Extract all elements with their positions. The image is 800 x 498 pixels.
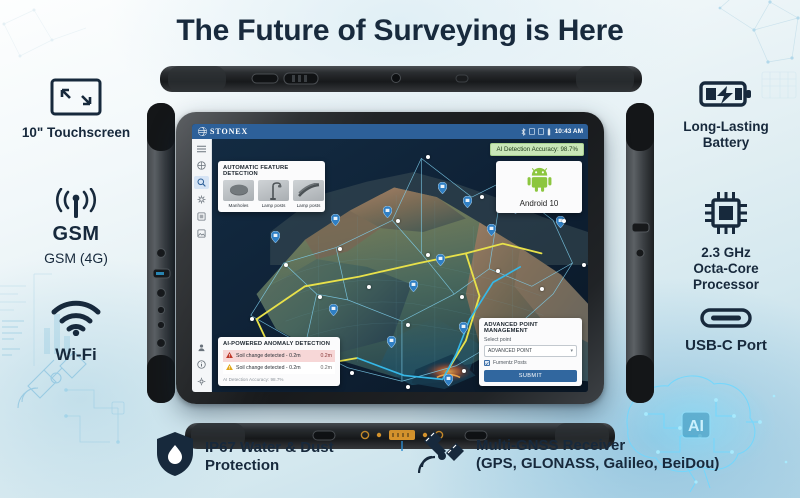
feature-detection-items: Manholes Lamp posts	[223, 180, 320, 208]
status-bar: STONEX 10:43 AM	[192, 124, 588, 139]
map-pin[interactable]	[438, 181, 447, 193]
gsm-word: GSM	[8, 223, 144, 246]
image-icon[interactable]	[194, 227, 209, 240]
survey-point[interactable]	[496, 269, 500, 273]
survey-point[interactable]	[338, 247, 342, 251]
map-pin[interactable]	[487, 223, 496, 235]
map-pin[interactable]	[329, 303, 338, 315]
battery-bolt-icon	[658, 78, 794, 115]
survey-point[interactable]	[540, 287, 544, 291]
usb-c-icon	[658, 308, 794, 333]
survey-point[interactable]	[426, 253, 430, 257]
anomaly-value: 0.2m	[320, 353, 332, 359]
chevron-down-icon: ▾	[570, 348, 573, 354]
anomaly-row[interactable]: Soil change detected - 0.2m 0.2m	[223, 362, 335, 374]
app-sidebar	[192, 139, 212, 392]
survey-point[interactable]	[562, 219, 566, 223]
survey-point[interactable]	[367, 285, 371, 289]
settings-icon[interactable]	[194, 375, 209, 388]
survey-point[interactable]	[462, 369, 466, 373]
map-pin[interactable]	[271, 230, 280, 242]
select-point-label: Select point	[484, 337, 577, 343]
anomaly-title: AI-POWERED ANOMALY DETECTION	[223, 341, 335, 347]
tablet-screen[interactable]: STONEX 10:43 AM	[192, 124, 588, 392]
touchscreen-icon	[8, 78, 144, 121]
guardrail-icon	[293, 180, 324, 201]
brand-logo: STONEX	[198, 127, 248, 136]
user-icon[interactable]	[194, 341, 209, 354]
feature-touchscreen: 10" Touchscreen	[8, 78, 144, 141]
survey-point[interactable]	[460, 295, 464, 299]
status-icons: 10:43 AM	[521, 128, 583, 136]
clock-label: 10:43 AM	[555, 128, 583, 135]
stonex-globe-icon	[198, 127, 207, 136]
menu-icon[interactable]	[194, 142, 209, 155]
survey-point[interactable]	[426, 155, 430, 159]
point-management-panel[interactable]: ADVANCED POINT MANAGEMENT Select point A…	[479, 318, 582, 386]
feature-label: 2.3 GHz Octa-Core Processor	[658, 245, 794, 293]
anomaly-value: 0.2m	[320, 365, 332, 371]
map-pin[interactable]	[436, 253, 445, 265]
feature-item-caption: Lamp posts	[258, 203, 289, 208]
feature-label: Wi-Fi	[8, 345, 144, 365]
brand-name: STONEX	[210, 127, 248, 136]
feature-label: Long-Lasting Battery	[658, 119, 794, 151]
battery-icon	[547, 128, 551, 136]
poster-canvas: AI The Future of Surveying is Here	[0, 0, 800, 498]
wifi-icon	[8, 300, 144, 341]
feature-detection-title: AUTOMATIC FEATURE DETECTION	[223, 165, 320, 177]
submit-button[interactable]: SUBMIT	[484, 370, 577, 382]
select-point-dropdown[interactable]: ADVANCED POINT ▾	[484, 345, 577, 357]
feature-processor: 2.3 GHz Octa-Core Processor	[658, 190, 794, 293]
shield-droplet-icon	[155, 431, 195, 482]
select-point-value: ADVANCED POINT	[488, 348, 532, 354]
feature-item[interactable]: Manholes	[223, 180, 254, 208]
map-pin[interactable]	[409, 279, 418, 291]
tablet-device: STONEX 10:43 AM	[176, 112, 604, 404]
map-pin[interactable]	[463, 195, 472, 207]
survey-point[interactable]	[582, 263, 586, 267]
android-robot-icon	[526, 166, 553, 197]
furniture-posts-label: Furnentz Posts	[493, 360, 527, 366]
feature-item-caption: Lamp posts	[293, 203, 324, 208]
feature-label: USB-C Port	[658, 337, 794, 355]
survey-point[interactable]	[250, 317, 254, 321]
anomaly-footer: AI Detection Accuracy: 98.7%	[223, 377, 335, 382]
feature-item[interactable]: Lamp posts	[293, 180, 324, 208]
globe-icon[interactable]	[194, 159, 209, 172]
android-version-card: Android 10	[496, 161, 582, 213]
feature-gsm: GSM GSM (4G)	[8, 188, 144, 267]
app-body: AI Detection Accuracy: 98.7% AUTOMATIC F…	[192, 139, 588, 392]
anomaly-detection-panel[interactable]: AI-POWERED ANOMALY DETECTION Soil change…	[218, 337, 340, 386]
point-management-title: ADVANCED POINT MANAGEMENT	[484, 322, 577, 334]
survey-point[interactable]	[406, 323, 410, 327]
ai-accuracy-badge: AI Detection Accuracy: 98.7%	[490, 143, 584, 156]
survey-point[interactable]	[480, 195, 484, 199]
feature-usbc: USB-C Port	[658, 308, 794, 355]
feature-detection-panel[interactable]: AUTOMATIC FEATURE DETECTION Manholes	[218, 161, 325, 212]
feature-ip67: IP67 Water & Dust Protection	[155, 431, 334, 482]
feature-label: Multi-GNSS Receiver (GPS, GLONASS, Galil…	[476, 437, 719, 473]
info-icon[interactable]	[194, 358, 209, 371]
search-icon[interactable]	[194, 176, 209, 189]
feature-item[interactable]: Lamp posts	[258, 180, 289, 208]
survey-point[interactable]	[350, 371, 354, 375]
map-pin[interactable]	[459, 321, 468, 333]
survey-point[interactable]	[318, 295, 322, 299]
survey-point[interactable]	[284, 263, 288, 267]
feature-label: IP67 Water & Dust Protection	[205, 439, 334, 475]
lamp-post-icon	[258, 180, 289, 201]
gear-icon[interactable]	[194, 193, 209, 206]
layers-icon[interactable]	[194, 210, 209, 223]
map-pin[interactable]	[383, 205, 392, 217]
cpu-chip-icon	[658, 190, 794, 241]
warning-triangle-icon	[226, 352, 233, 360]
tablet-top-edge-view	[160, 57, 642, 101]
feature-wifi: Wi-Fi	[8, 300, 144, 365]
anomaly-row[interactable]: Soil change detected - 0.2m 0.2m	[223, 350, 335, 362]
satellite-icon	[418, 429, 466, 480]
manhole-icon	[223, 180, 254, 201]
page-title: The Future of Surveying is Here	[0, 14, 800, 48]
map-pin[interactable]	[444, 373, 453, 385]
feature-label: 10" Touchscreen	[8, 125, 144, 141]
sim-icon	[529, 128, 535, 135]
map-canvas[interactable]: AI Detection Accuracy: 98.7% AUTOMATIC F…	[212, 139, 588, 392]
feature-item-caption: Manholes	[223, 203, 254, 208]
gsm-antenna-icon	[8, 188, 144, 225]
survey-point[interactable]	[406, 385, 410, 389]
survey-point[interactable]	[396, 219, 400, 223]
feature-gnss: Multi-GNSS Receiver (GPS, GLONASS, Galil…	[418, 429, 719, 480]
bluetooth-icon	[521, 128, 526, 136]
feature-battery: Long-Lasting Battery	[658, 78, 794, 151]
anomaly-text: Soil change detected - 0.2m	[236, 353, 301, 359]
feature-label: GSM (4G)	[8, 250, 144, 267]
map-pin[interactable]	[331, 213, 340, 225]
android-version-label: Android 10	[520, 199, 559, 208]
checkbox-icon[interactable]	[484, 360, 490, 366]
warning-triangle-icon	[226, 364, 233, 372]
sim-icon	[538, 128, 544, 135]
furniture-posts-checkbox-row[interactable]: Furnentz Posts	[484, 360, 577, 366]
map-pin[interactable]	[387, 335, 396, 347]
anomaly-text: Soil change detected - 0.2m	[236, 365, 301, 371]
